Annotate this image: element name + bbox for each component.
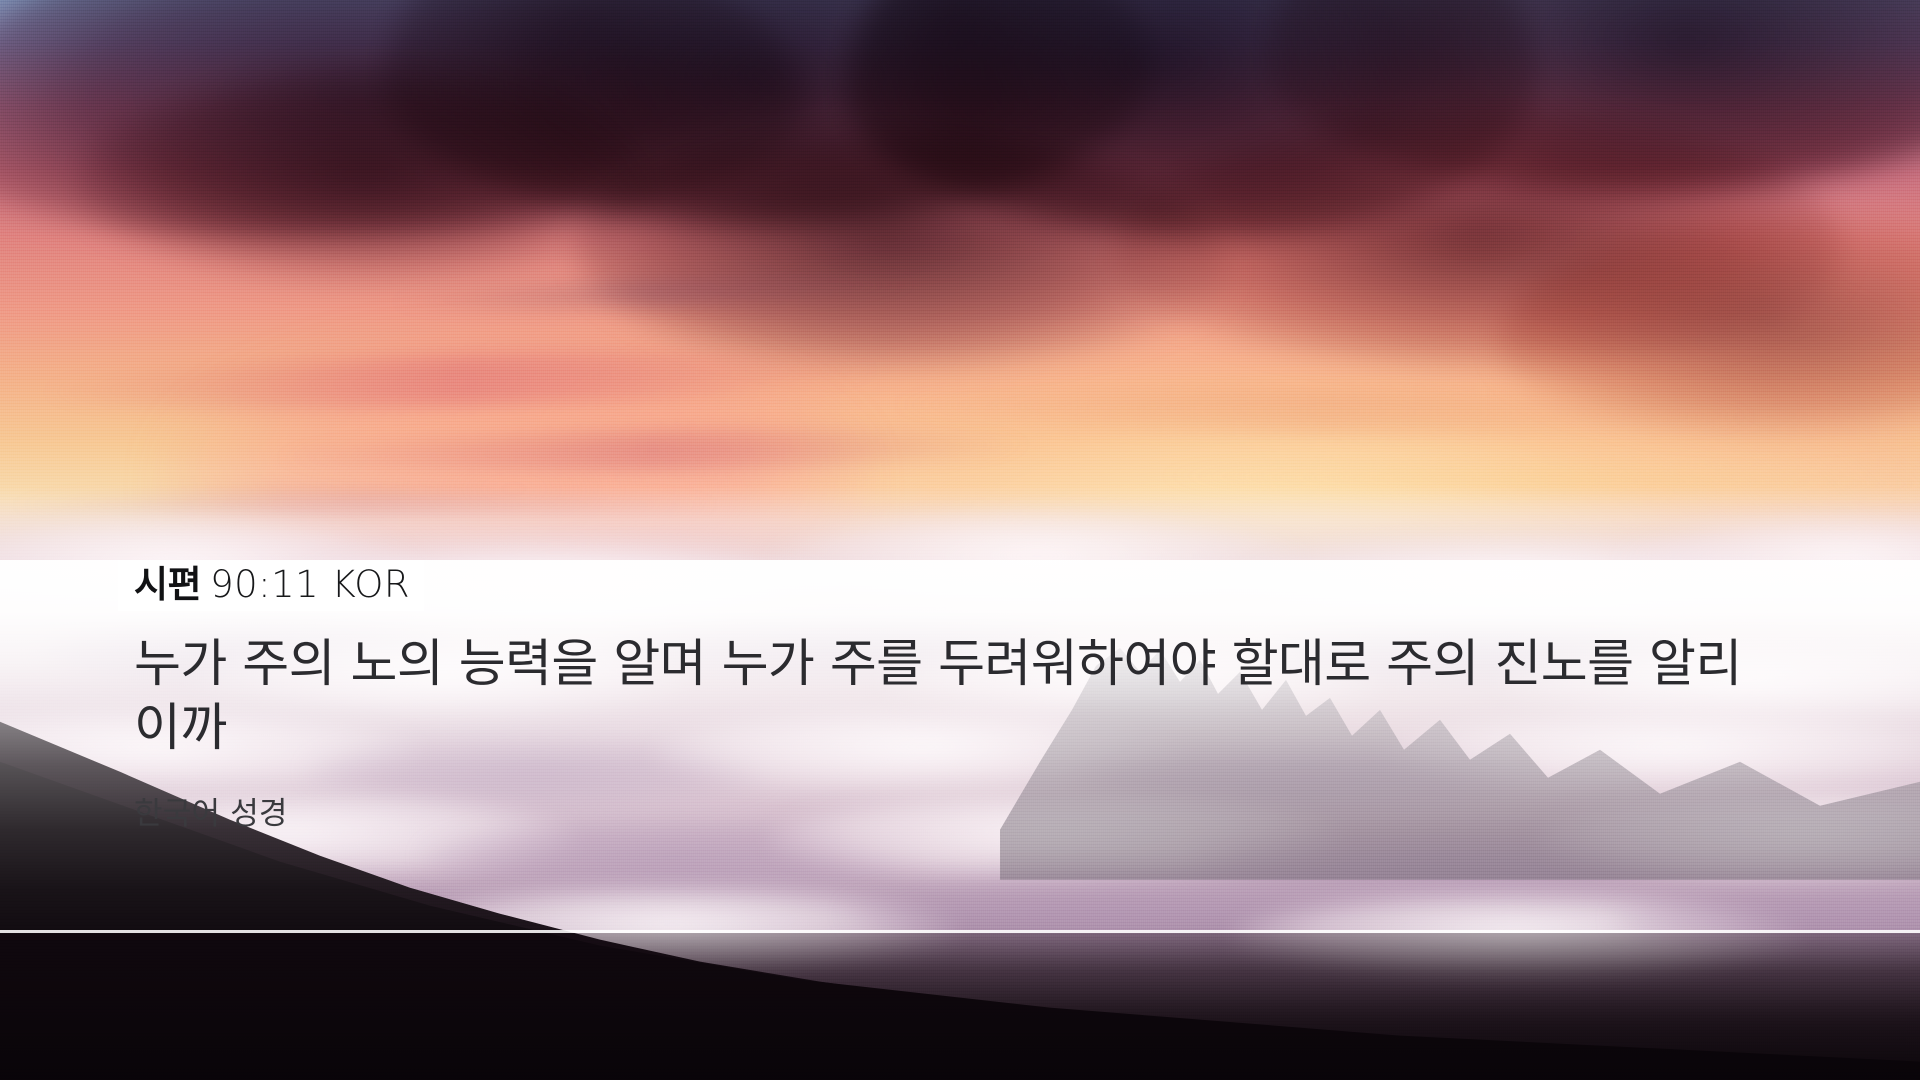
verse-reference-book: 시편 bbox=[134, 563, 201, 606]
verse-reference-chip: 시편90:11 KOR bbox=[118, 560, 424, 611]
verse-image-card: 시편90:11 KOR 누가 주의 노의 능력을 알며 누가 주를 두려워하여야… bbox=[0, 0, 1920, 1080]
band-divider-rule bbox=[0, 930, 1920, 933]
verse-content: 시편90:11 KOR 누가 주의 노의 능력을 알며 누가 주를 두려워하여야… bbox=[134, 560, 1774, 833]
verse-text: 누가 주의 노의 능력을 알며 누가 주를 두려워하여야 할대로 주의 진노를 … bbox=[134, 633, 1774, 762]
verse-reference-location: 90:11 KOR bbox=[210, 563, 410, 606]
verse-source-label: 한국어 성경 bbox=[134, 788, 1774, 833]
